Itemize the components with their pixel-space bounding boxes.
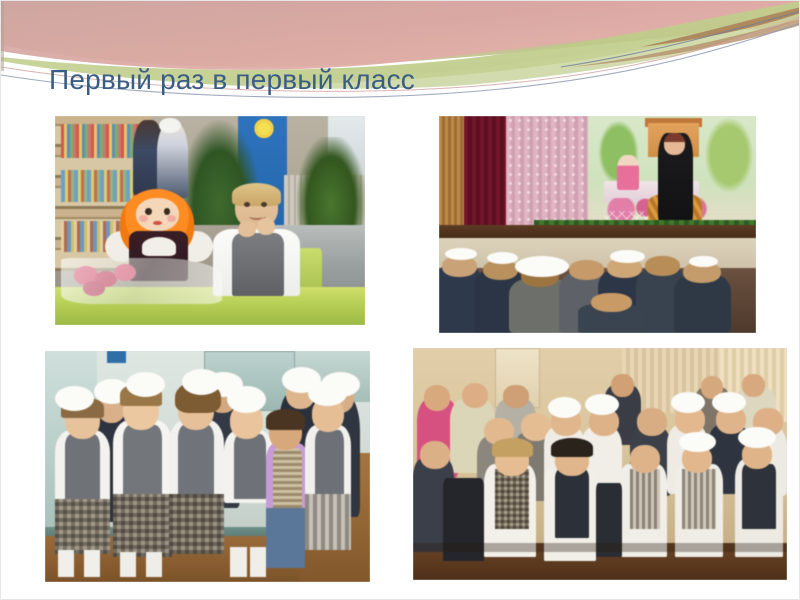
background-child-bow (159, 118, 181, 133)
photo-assembly-hall[interactable] (413, 348, 787, 580)
pupil-mid-bow-7 (712, 392, 746, 413)
audience-group (439, 229, 756, 333)
adult-head-4 (611, 374, 633, 397)
pupil-front-head-4 (630, 445, 660, 473)
pupil-tights-4 (230, 547, 246, 577)
adult-head-1 (424, 385, 450, 411)
books-row-2 (61, 170, 142, 201)
pupil-skirt-1 (55, 499, 110, 554)
pupil-front-bow-5 (679, 432, 716, 453)
page-title: Первый раз в первый класс (49, 63, 749, 97)
doll-eye-right (164, 208, 171, 215)
wall-sign (107, 351, 127, 363)
slide: Первый раз в первый класс (0, 0, 800, 600)
doll-face (136, 198, 179, 231)
doll-collar (142, 237, 176, 256)
boy-hand-right (257, 218, 276, 235)
child-big-bow (515, 256, 569, 277)
photo-pupils-in-line[interactable] (45, 351, 370, 582)
pupil-bow-1 (55, 386, 94, 411)
boy-jeans (266, 508, 305, 568)
pupil-skirt-3 (169, 494, 224, 554)
photo-2-scene (439, 116, 756, 333)
boy-blond-hair (232, 183, 282, 206)
boy-dark-hair (266, 409, 305, 430)
doll-cheek-left (139, 215, 148, 221)
pupil-mid-bow-6 (671, 392, 705, 413)
pupil-pinafore-4 (234, 434, 267, 499)
photo-1-scene (55, 116, 365, 325)
pupil-pinafore-3 (178, 425, 214, 499)
photo-boy-with-doll[interactable] (55, 116, 365, 325)
books-row-1 (61, 124, 142, 157)
floor-shadow (413, 543, 787, 552)
pupil-front-3-vest (555, 469, 589, 539)
background-child-2 (157, 122, 188, 197)
pupil-front-4-vest (630, 469, 660, 529)
adult-head-2 (462, 383, 488, 409)
child-bow-1 (445, 248, 477, 260)
pupil-tights-1 (58, 550, 74, 578)
bouquet-wrapping (61, 258, 222, 304)
pupil-skirt-2 (113, 494, 172, 556)
backdrop-painted-girl (617, 155, 639, 190)
pupil-front-6-vest (742, 464, 776, 529)
doll-mouth (153, 221, 162, 225)
pupil-front-bow-6 (738, 427, 775, 448)
pupil-pinafore-1 (65, 434, 101, 503)
pupil-tights-1b (84, 550, 100, 578)
boy-eye-right (261, 202, 267, 207)
photo-3-scene (45, 351, 370, 582)
boy-striped-vest (273, 448, 302, 508)
pupil-pinafore-2 (123, 425, 162, 499)
doll-cheek-right (167, 215, 176, 221)
child-back-7 (674, 275, 731, 333)
performer-head (664, 133, 685, 155)
pupil-tights-2b (146, 552, 162, 577)
boy-eye-left (244, 202, 250, 207)
child-head-8 (591, 293, 632, 312)
adult-head-6 (742, 374, 764, 397)
pupil-pinafore-5 (315, 430, 344, 499)
photo-stage-performance[interactable] (439, 116, 756, 333)
pupil-front-5-vest (682, 469, 716, 529)
pupil-mid-bow-3 (548, 397, 582, 418)
pupil-tights-2 (120, 552, 136, 577)
doll-eye-left (145, 208, 152, 215)
boy-grey-vest (232, 233, 285, 296)
pupil-bow-3 (182, 369, 221, 394)
backdrop-tree-right (705, 118, 753, 192)
child-head-6 (645, 256, 680, 276)
pupil-front-2-vest (495, 469, 529, 529)
pupil-skirt-5 (305, 494, 351, 549)
pupil-front-head-1 (420, 441, 450, 469)
pupil-bow-4 (227, 386, 266, 414)
adult-head-3 (503, 385, 529, 408)
pupil-front-hair-3 (551, 438, 592, 457)
child-bow-5 (610, 250, 645, 264)
child-head-4 (569, 260, 604, 280)
pupil-tights-4b (250, 547, 266, 577)
pupil-front-hair-2 (492, 438, 533, 457)
pupil-mid-head-5 (637, 408, 667, 436)
header-decoration (1, 1, 800, 121)
pupil-mid-bow-4 (585, 394, 619, 415)
photo-4-scene (413, 348, 787, 580)
palm-plant-right (297, 137, 365, 233)
